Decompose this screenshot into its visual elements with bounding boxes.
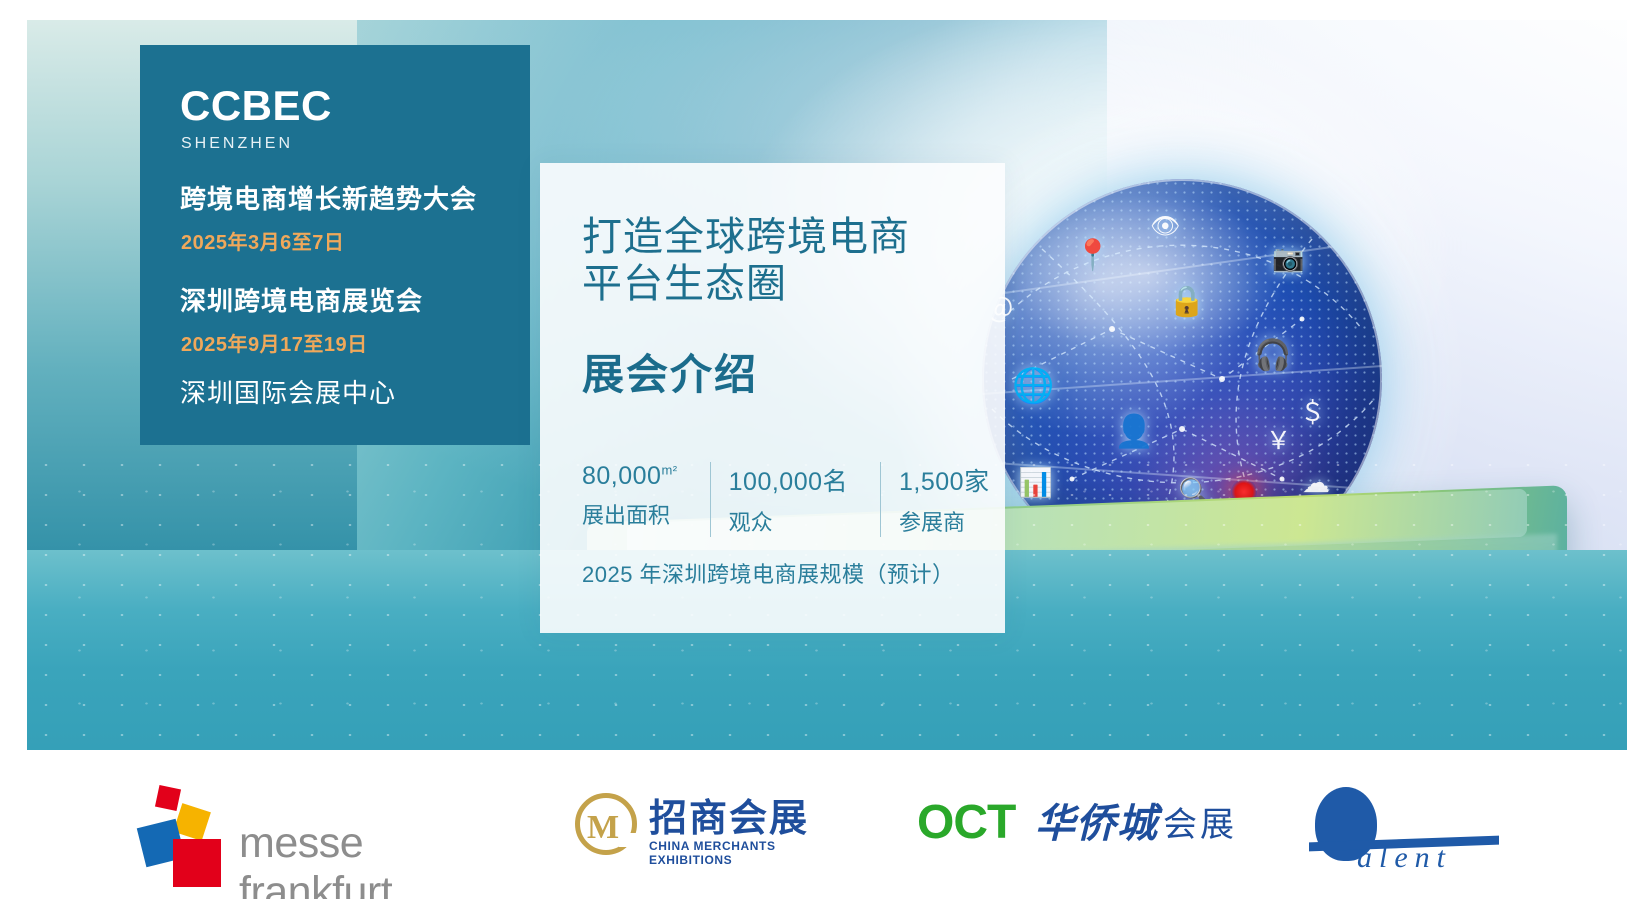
messe-square-red-large — [173, 839, 221, 887]
stat-value: 1,500家 — [899, 462, 990, 498]
cm-ring-gap — [619, 833, 641, 847]
event1-title: 跨境电商增长新趋势大会 — [180, 179, 530, 216]
logo-talent[interactable]: alent — [1309, 779, 1519, 871]
oct-chinese-name: 华侨城 — [1035, 791, 1158, 849]
card-section-title: 展会介绍 — [582, 341, 1005, 402]
oct-chinese-suffix: 会展 — [1163, 797, 1237, 846]
messe-frankfurt-wordmark: messe frankfurt — [239, 819, 503, 899]
event2-title: 深圳跨境电商展览会 — [180, 281, 530, 318]
content-card: 打造全球跨境电商平台生态圈 展会介绍 80,000m² 展出面积 100,000… — [540, 163, 1005, 633]
hero-banner: 📍 🔒 🎧 🌐 👤 📊 🎤 🔍 📷 ＠ ＄ ￥ ☁ 📶 👁 💬 — [27, 20, 1627, 750]
stat-label: 观众 — [729, 505, 848, 537]
event-info-panel: CCBEC SHENZHEN 跨境电商增长新趋势大会 2025年3月6至7日 深… — [140, 45, 530, 445]
logo-china-merchants-exhibitions[interactable]: M 招商会展 CHINA MERCHANTS EXHIBITIONS — [575, 779, 845, 871]
logo-messe-frankfurt[interactable]: messe frankfurt — [133, 779, 503, 871]
talent-wordmark: alent — [1357, 841, 1452, 875]
stat-label: 参展商 — [899, 505, 990, 537]
dollar-icon: ＄ — [1300, 401, 1325, 426]
globe-icon: 🌐 — [1012, 369, 1054, 403]
messe-square-red-small — [155, 784, 181, 810]
stat-value: 100,000名 — [729, 462, 848, 498]
card-headline: 打造全球跨境电商平台生态圈 — [582, 213, 1005, 307]
cm-chinese-name: 招商会展 — [649, 787, 809, 842]
camera-icon: 📷 — [1272, 245, 1304, 271]
poster-root: 📍 🔒 🎧 🌐 👤 📊 🎤 🔍 📷 ＠ ＄ ￥ ☁ 📶 👁 💬 — [0, 0, 1652, 899]
oct-latin-wordmark: OCT — [917, 795, 1015, 850]
lock-icon: 🔒 — [1168, 287, 1205, 317]
cm-english-name: CHINA MERCHANTS EXHIBITIONS — [649, 839, 845, 867]
stat-item: 1,500家 参展商 — [880, 462, 1006, 537]
brand-title: CCBEC — [180, 85, 530, 127]
location-pin-icon: 📍 — [1074, 241, 1111, 271]
event2-date: 2025年9月17至19日 — [181, 328, 530, 357]
partner-logo-bar: messe frankfurt M 招商会展 CHINA MERCHANTS E… — [0, 750, 1652, 899]
event-venue: 深圳国际会展中心 — [180, 373, 530, 410]
stat-label: 展出面积 — [582, 498, 678, 530]
event1-date: 2025年3月6至7日 — [181, 226, 530, 255]
stat-item: 80,000m² 展出面积 — [582, 462, 694, 537]
brand-subtitle: SHENZHEN — [181, 135, 530, 153]
user-icon: 👤 — [1114, 415, 1154, 447]
stats-row: 80,000m² 展出面积 100,000名 观众 1,500家 参展商 — [582, 462, 1005, 537]
cm-mountain-mark: M — [587, 809, 619, 847]
stat-value: 80,000m² — [582, 462, 678, 491]
stat-item: 100,000名 观众 — [710, 462, 864, 537]
eye-icon: 👁 — [1150, 215, 1180, 239]
logo-oct-exhibition[interactable]: OCT 华侨城 会展 — [917, 779, 1237, 871]
headphones-icon: 🎧 — [1254, 341, 1291, 371]
card-caption: 2025 年深圳跨境电商展规模（预计） — [582, 557, 1005, 589]
